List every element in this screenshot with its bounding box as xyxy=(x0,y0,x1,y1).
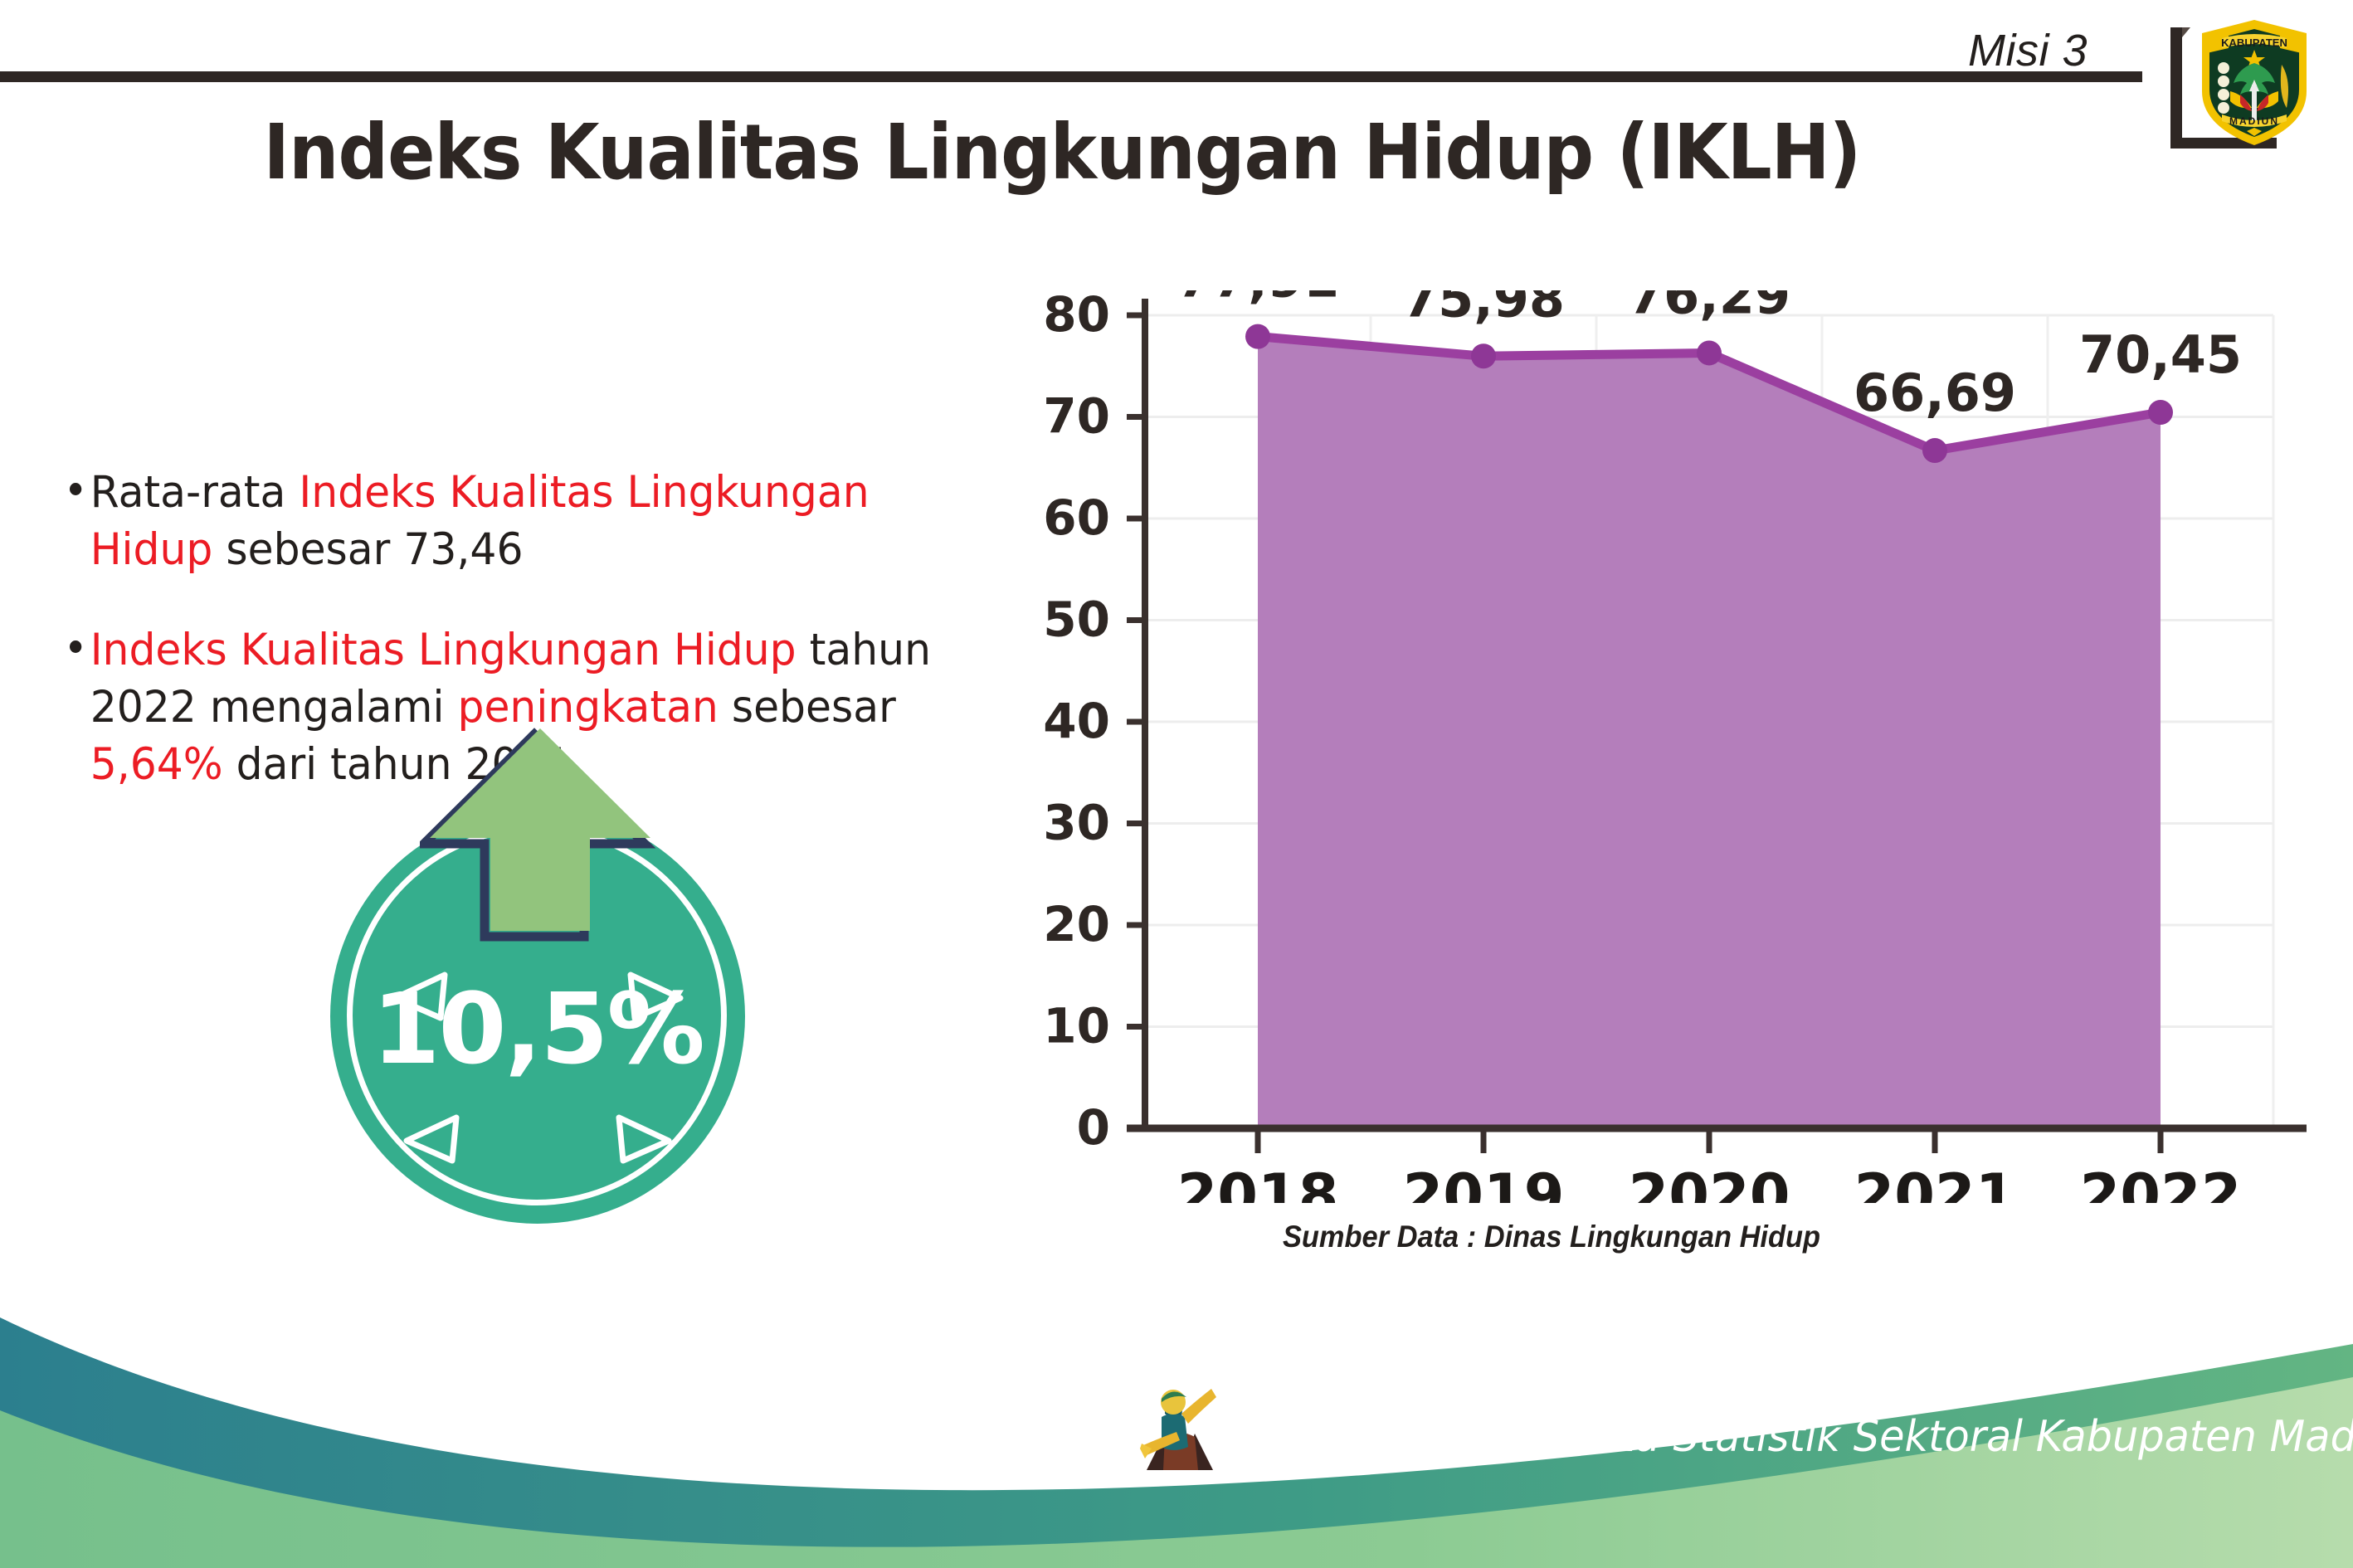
header-rule xyxy=(0,71,2142,82)
data-label: 66,69 xyxy=(1854,363,2016,423)
data-label: 77,91 xyxy=(1176,290,1339,309)
footer-caption: Media Infografis Data Statistik Sektoral… xyxy=(1220,1412,2353,1462)
chart-source-caption: Sumber Data : Dinas Lingkungan Hidup xyxy=(1019,1220,2083,1254)
bullet-dot-icon xyxy=(70,483,81,495)
iklh-area-chart: 01020304050607080 20182019202020212022 7… xyxy=(979,290,2307,1203)
highlight-text: Indeks Kualitas Lingkungan Hidup xyxy=(90,625,797,675)
emblem-bracket-vertical xyxy=(2170,27,2182,149)
data-marker xyxy=(1697,340,1722,365)
svg-text:MADIUN: MADIUN xyxy=(2229,115,2279,127)
data-marker xyxy=(1922,438,1947,463)
badge-percentage: 10,5% xyxy=(330,971,745,1086)
x-tick-label: 2021 xyxy=(1854,1161,2016,1203)
misi-label: Misi 3 xyxy=(1968,25,2087,76)
highlight-text: 5,64% xyxy=(90,739,223,790)
y-tick-label: 80 xyxy=(1043,290,1110,343)
x-tick-label: 2019 xyxy=(1403,1161,1565,1203)
plain-text: sebesar xyxy=(719,682,896,733)
y-tick-label: 70 xyxy=(1043,388,1110,445)
infographic-slide: Misi 3 KABUPATEN MADIUN Indeks Kualitas … xyxy=(0,0,2353,1568)
y-tick-label: 20 xyxy=(1043,896,1110,952)
y-tick-label: 0 xyxy=(1077,1099,1110,1156)
chart-x-tick-labels: 20182019202020212022 xyxy=(1177,1161,2242,1203)
data-marker xyxy=(2148,400,2173,425)
svg-text:KABUPATEN: KABUPATEN xyxy=(2221,37,2287,49)
y-tick-label: 60 xyxy=(1043,489,1110,546)
bullet-dot-icon xyxy=(70,640,81,653)
y-tick-label: 10 xyxy=(1043,998,1110,1054)
plain-text: Rata-rata xyxy=(90,467,300,518)
data-marker xyxy=(1471,343,1496,368)
x-tick-label: 2022 xyxy=(2080,1161,2242,1203)
y-tick-label: 30 xyxy=(1043,795,1110,851)
x-tick-label: 2018 xyxy=(1177,1161,1339,1203)
bullet-text-0: Rata-rata Indeks Kualitas Lingkungan Hid… xyxy=(70,465,937,579)
up-arrow-icon xyxy=(420,722,660,962)
chart-y-tick-labels: 01020304050607080 xyxy=(1043,290,1110,1156)
kabupaten-madiun-emblem-icon: KABUPATEN MADIUN xyxy=(2192,15,2316,149)
chart-area-fill xyxy=(1258,337,2161,1128)
y-tick-label: 50 xyxy=(1043,592,1110,648)
x-tick-label: 2020 xyxy=(1629,1161,1790,1203)
increase-badge: 10,5% xyxy=(330,809,745,1224)
data-marker xyxy=(1245,324,1270,349)
y-tick-label: 40 xyxy=(1043,693,1110,749)
data-label: 70,45 xyxy=(2079,324,2242,385)
plain-text: sebesar 73,46 xyxy=(212,524,523,575)
list-item: Rata-rata Indeks Kualitas Lingkungan Hid… xyxy=(70,465,937,579)
page-title: Indeks Kualitas Lingkungan Hidup (IKLH) xyxy=(85,108,2039,197)
area-fill xyxy=(1258,337,2161,1128)
media-infografis-logo-icon xyxy=(1140,1381,1220,1478)
data-label: 76,29 xyxy=(1628,290,1790,325)
data-label: 75,98 xyxy=(1402,290,1565,329)
